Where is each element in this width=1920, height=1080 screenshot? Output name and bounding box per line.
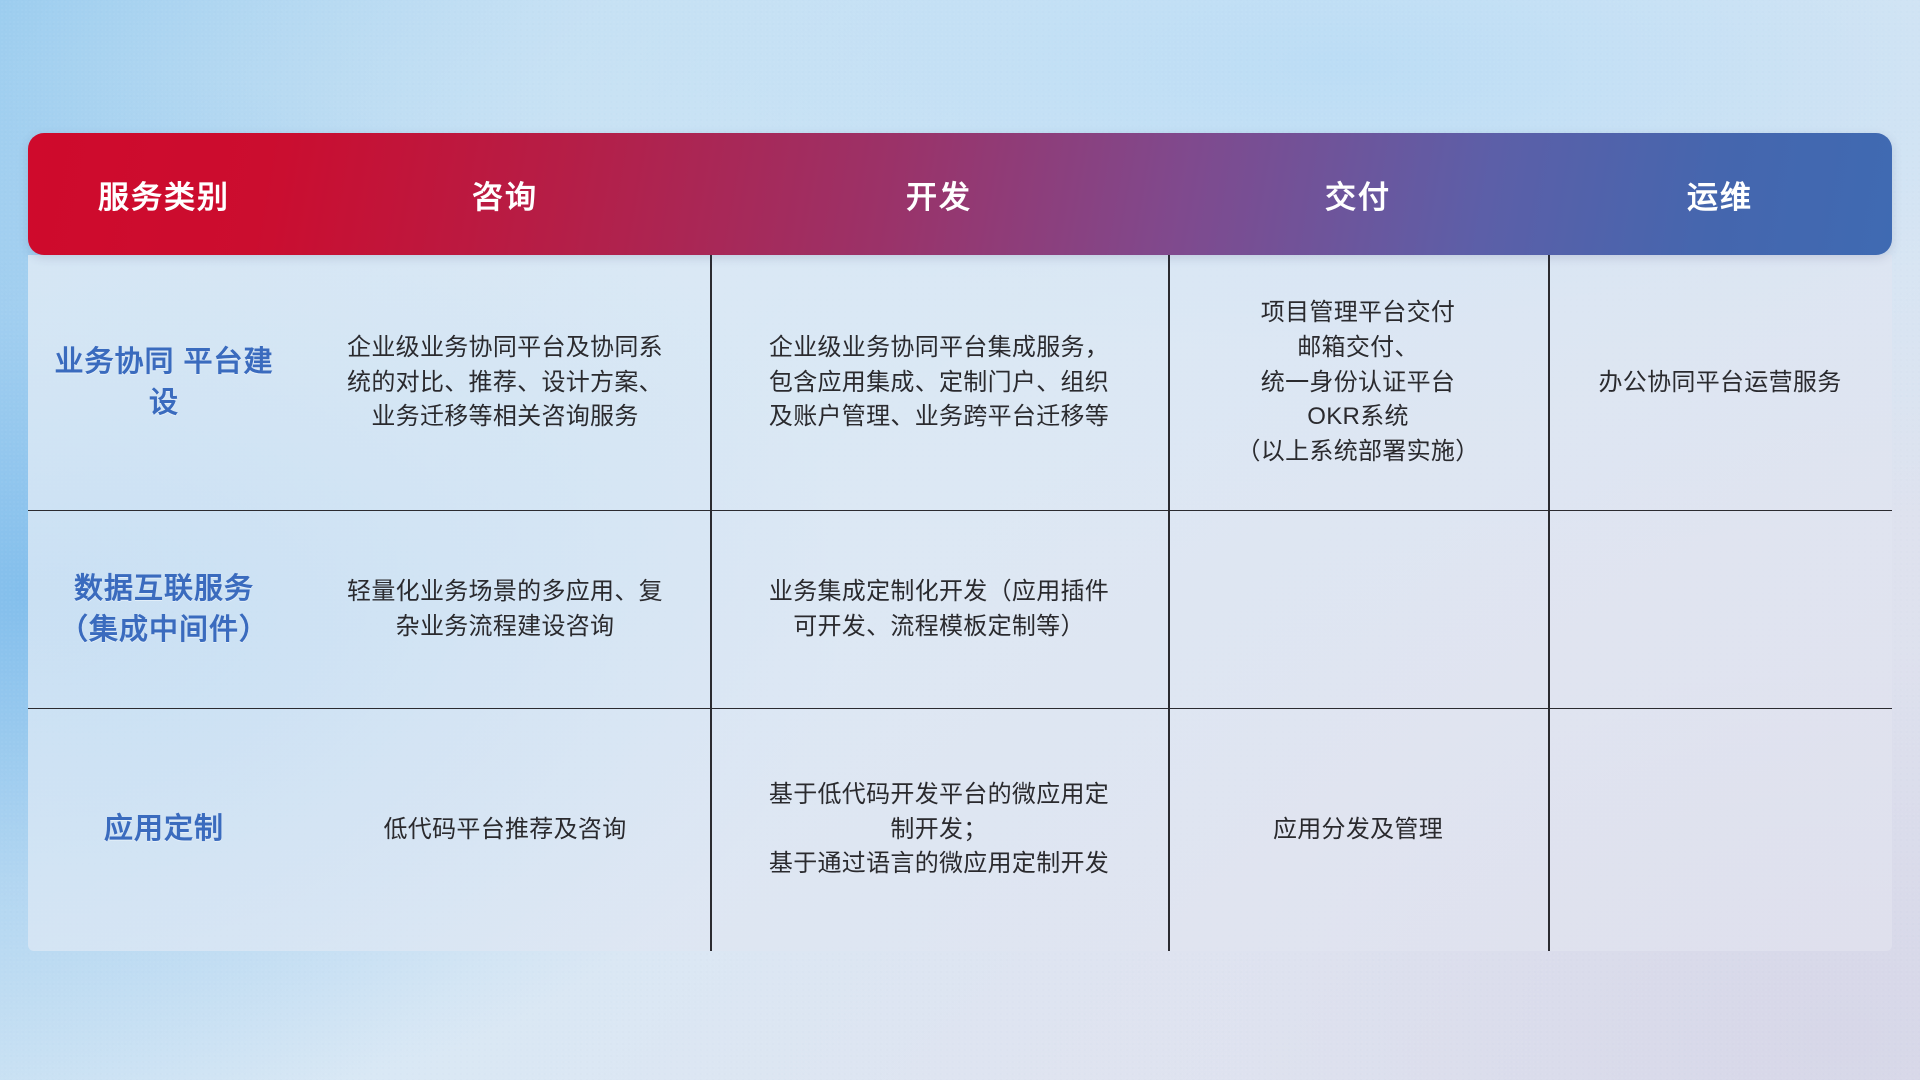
category-label: 应用定制	[104, 809, 224, 850]
cell-operations-business-collaboration: 办公协同平台运营服务	[1548, 255, 1892, 511]
cell-development-application-customization: 基于低代码开发平台的微应用定 制开发； 基于通过语言的微应用定制开发	[710, 709, 1168, 951]
cell-operations-application-customization	[1548, 709, 1892, 951]
cell-development-business-collaboration: 企业级业务协同平台集成服务， 包含应用集成、定制门户、组织 及账户管理、业务跨平…	[710, 255, 1168, 511]
cell-text: 业务集成定制化开发（应用插件 可开发、流程模板定制等）	[769, 575, 1109, 645]
cell-development-data-interconnect: 业务集成定制化开发（应用插件 可开发、流程模板定制等）	[710, 511, 1168, 709]
cell-consulting-data-interconnect: 轻量化业务场景的多应用、复 杂业务流程建设咨询	[300, 511, 710, 709]
cell-consulting-business-collaboration: 企业级业务协同平台及协同系 统的对比、推荐、设计方案、 业务迁移等相关咨询服务	[300, 255, 710, 511]
column-header-consulting: 咨询	[300, 172, 710, 217]
table-row: 数据互联服务 （集成中间件） 轻量化业务场景的多应用、复 杂业务流程建设咨询 业…	[28, 511, 1892, 709]
service-matrix-table: 服务类别 咨询 开发 交付 运维 业务协同 平台建设 企业级业务协同平台及协同系…	[28, 133, 1892, 951]
cell-text: 轻量化业务场景的多应用、复 杂业务流程建设咨询	[347, 575, 663, 645]
cell-category-business-collaboration: 业务协同 平台建设	[28, 255, 300, 511]
column-header-development: 开发	[710, 172, 1168, 217]
cell-text: 基于低代码开发平台的微应用定 制开发； 基于通过语言的微应用定制开发	[769, 778, 1109, 882]
cell-category-application-customization: 应用定制	[28, 709, 300, 951]
cell-delivery-business-collaboration: 项目管理平台交付 邮箱交付、 统一身份认证平台 OKR系统 （以上系统部署实施）	[1168, 255, 1548, 511]
column-header-delivery: 交付	[1168, 172, 1548, 217]
column-header-operations: 运维	[1548, 172, 1892, 217]
table-row: 业务协同 平台建设 企业级业务协同平台及协同系 统的对比、推荐、设计方案、 业务…	[28, 255, 1892, 511]
category-label: 数据互联服务 （集成中间件）	[42, 569, 286, 651]
cell-text: 低代码平台推荐及咨询	[384, 813, 627, 848]
column-header-category: 服务类别	[28, 172, 300, 217]
cell-text: 企业级业务协同平台集成服务， 包含应用集成、定制门户、组织 及账户管理、业务跨平…	[769, 331, 1109, 435]
cell-text: 应用分发及管理	[1273, 813, 1443, 848]
cell-delivery-data-interconnect	[1168, 511, 1548, 709]
category-label: 业务协同 平台建设	[42, 342, 286, 424]
cell-consulting-application-customization: 低代码平台推荐及咨询	[300, 709, 710, 951]
cell-operations-data-interconnect	[1548, 511, 1892, 709]
table-body: 业务协同 平台建设 企业级业务协同平台及协同系 统的对比、推荐、设计方案、 业务…	[28, 255, 1892, 951]
cell-category-data-interconnect: 数据互联服务 （集成中间件）	[28, 511, 300, 709]
cell-text: 项目管理平台交付 邮箱交付、 统一身份认证平台 OKR系统 （以上系统部署实施）	[1237, 296, 1480, 470]
table-row: 应用定制 低代码平台推荐及咨询 基于低代码开发平台的微应用定 制开发； 基于通过…	[28, 709, 1892, 951]
cell-delivery-application-customization: 应用分发及管理	[1168, 709, 1548, 951]
cell-text: 办公协同平台运营服务	[1599, 366, 1842, 401]
table-header-row: 服务类别 咨询 开发 交付 运维	[28, 133, 1892, 255]
cell-text: 企业级业务协同平台及协同系 统的对比、推荐、设计方案、 业务迁移等相关咨询服务	[347, 331, 663, 435]
